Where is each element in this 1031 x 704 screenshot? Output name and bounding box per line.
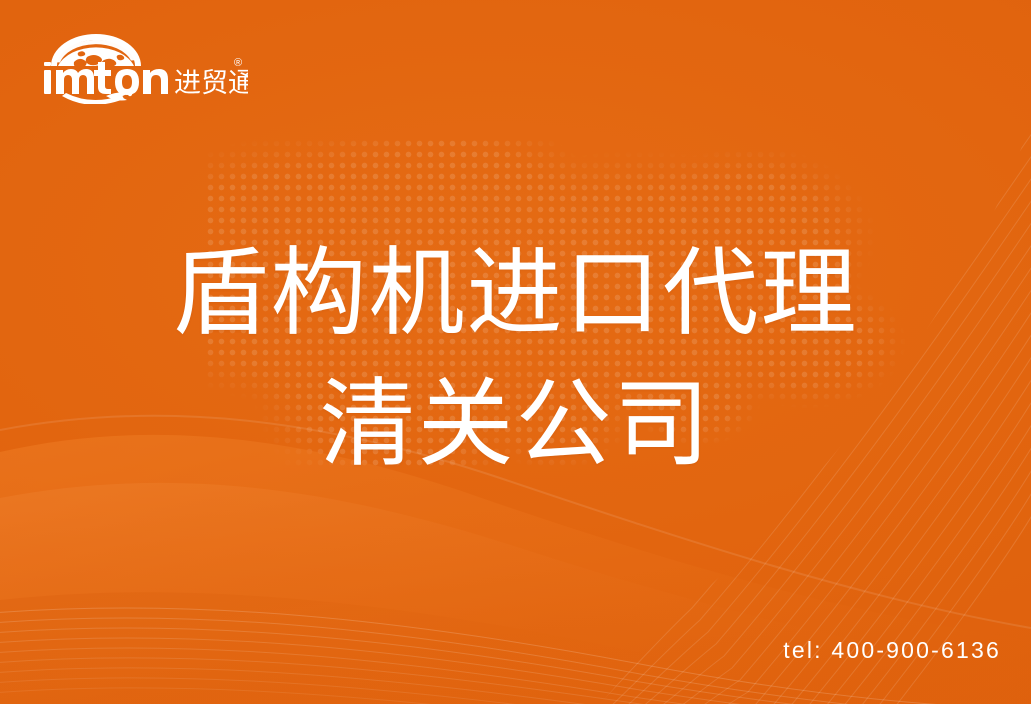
trademark-symbol: ® xyxy=(234,57,242,69)
headline-line-2: 清关公司 xyxy=(0,363,1031,486)
logo-chinese-name: 进贸通 xyxy=(174,68,248,99)
brand-logo[interactable]: 进贸通 ® xyxy=(38,26,248,104)
page-title: 盾构机进口代理 清关公司 xyxy=(0,232,1031,486)
promo-poster: 进贸通 ® 盾构机进口代理 清关公司 tel: 400-900-6136 xyxy=(0,0,1031,704)
logo-wordmark xyxy=(44,62,168,95)
headline-line-1: 盾构机进口代理 xyxy=(0,232,1031,355)
contact-telephone: tel: 400-900-6136 xyxy=(783,637,1001,664)
